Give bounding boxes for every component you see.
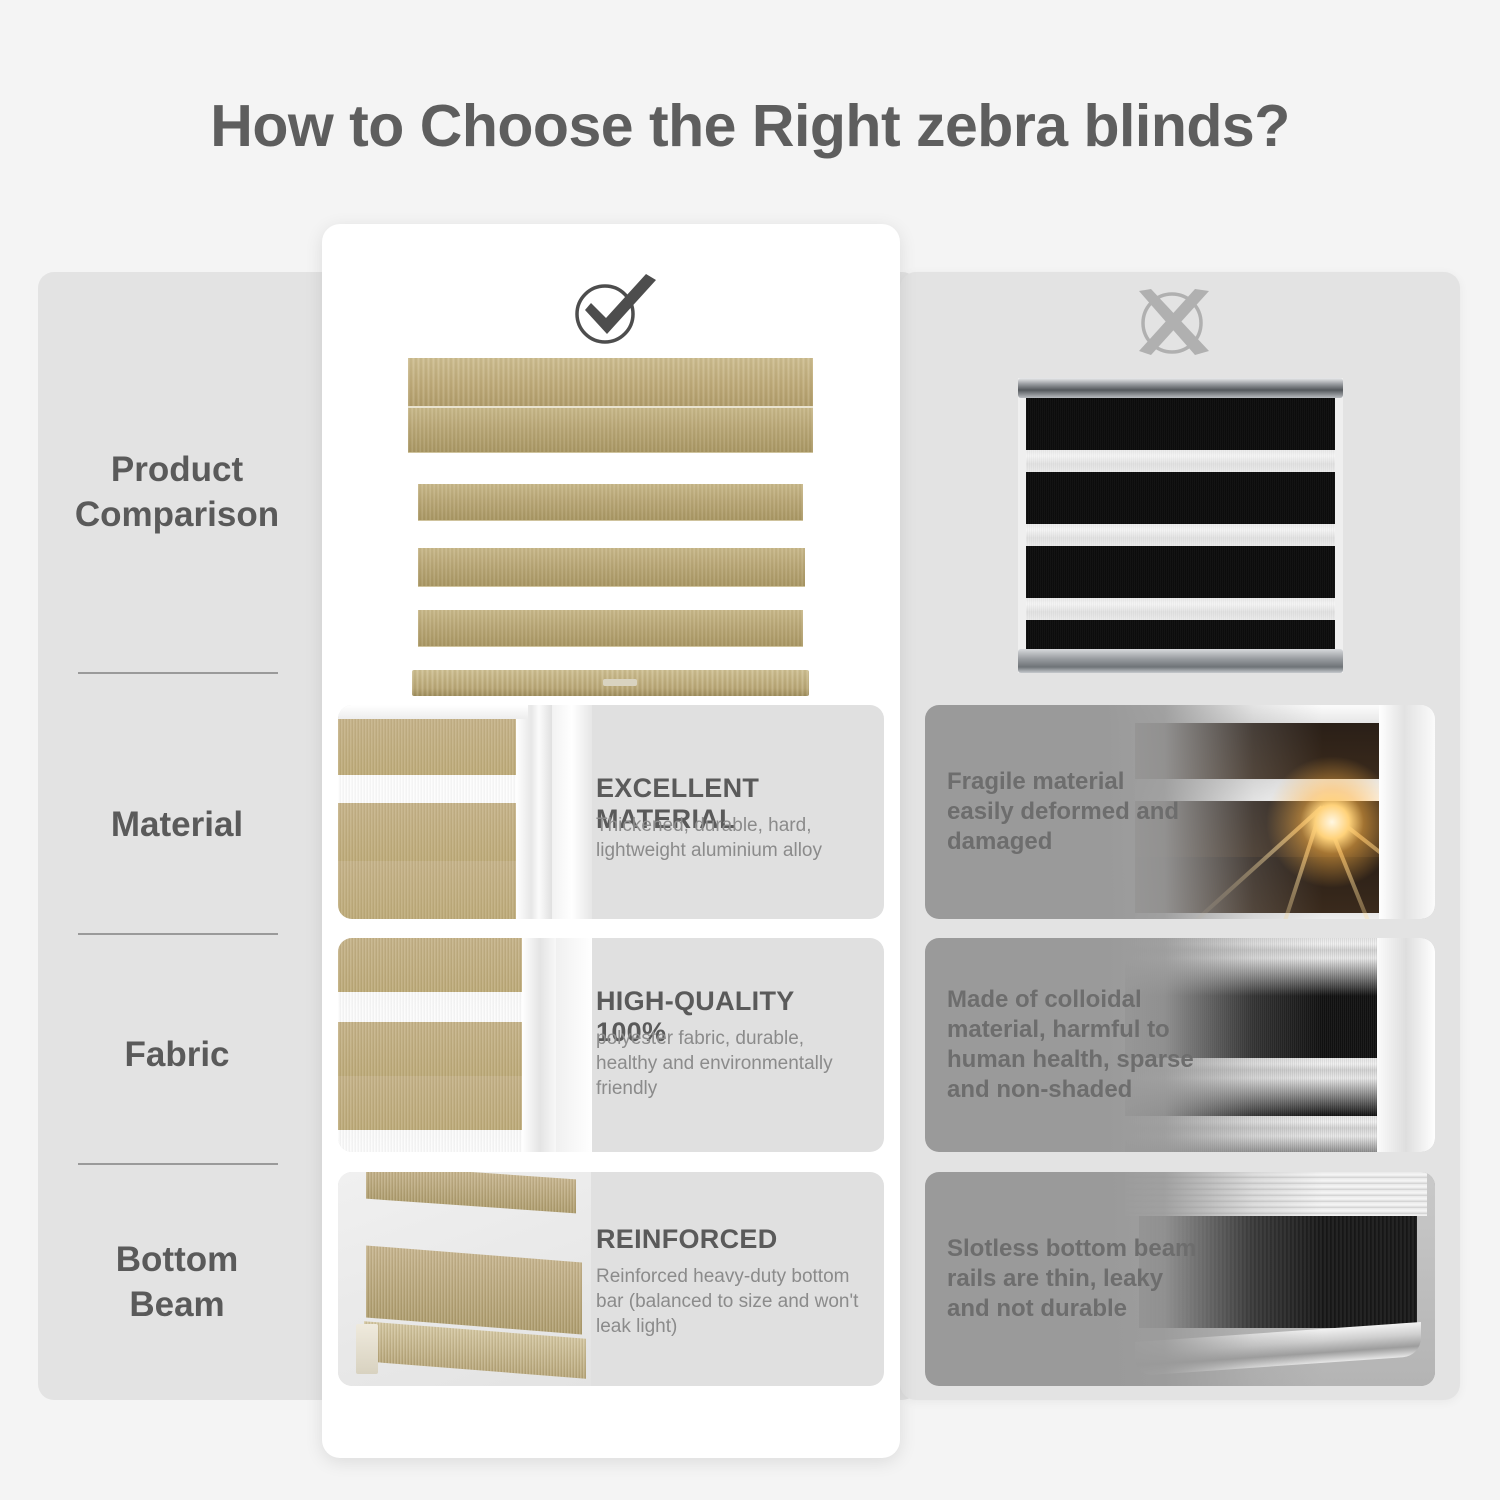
blind-headrail [408,358,813,408]
row-label-product-comparison: Product Comparison [38,447,316,537]
tan-fabric-closeup-photo [338,938,591,1152]
row-label-fabric: Fabric [38,1032,316,1077]
rail-divider [78,933,278,935]
bad-feature-text: Made of colloidal material, harmful to h… [947,938,1197,1152]
page-title: How to Choose the Right zebra blinds? [0,92,1500,160]
bad-feature-bottom-beam: Slotless bottom beam rails are thin, lea… [925,1172,1435,1386]
row-label-bottom-beam: Bottom Beam [38,1237,316,1327]
blind-fabric [1026,398,1335,649]
tan-blind-window-frame-photo [338,705,591,919]
good-feature-bottom-beam: REINFORCED Reinforced heavy-duty bottom … [338,1172,884,1386]
row-label-line-2: Beam [38,1282,316,1327]
bad-hero-product-image [1018,378,1343,673]
cross-circle-icon [1125,283,1220,363]
rail-divider [78,1163,278,1165]
bad-feature-material: Fragile material easily deformed and dam… [925,705,1435,919]
blind-slat [418,484,803,521]
blind-slat [418,548,805,587]
bad-feature-body: Fragile material easily deformed and dam… [947,767,1197,857]
blind-headrail [1018,378,1343,398]
blind-slat [408,408,813,453]
row-label-line-2: Comparison [38,492,316,537]
row-label-material: Material [38,802,316,847]
bad-feature-fabric: Made of colloidal material, harmful to h… [925,938,1435,1152]
blind-bottom-rail [1018,649,1343,673]
blind-bottom-bar [412,670,809,696]
good-feature-text: REINFORCED Reinforced heavy-duty bottom … [596,1172,866,1386]
bad-feature-body: Slotless bottom beam rails are thin, lea… [947,1234,1197,1324]
good-hero-product-image [408,358,813,698]
bad-feature-body: Made of colloidal material, harmful to h… [947,985,1197,1105]
row-label-line-1: Product [38,447,316,492]
good-feature-text: EXCELLENT MATERIAL Thickened, durable, h… [596,705,866,919]
bad-feature-text: Slotless bottom beam rails are thin, lea… [947,1172,1197,1386]
rail-divider [78,672,278,674]
blind-slat [418,610,803,647]
good-feature-body: Reinforced heavy-duty bottom bar (balanc… [596,1264,860,1339]
good-feature-body: polyester fabric, durable, healthy and e… [596,1026,860,1101]
check-circle-icon [560,272,670,352]
good-feature-fabric: HIGH-QUALITY 100% polyester fabric, dura… [338,938,884,1152]
good-feature-body: Thickened, durable, hard, lightweight al… [596,813,860,863]
bad-feature-text: Fragile material easily deformed and dam… [947,705,1197,919]
good-feature-title: REINFORCED [596,1224,778,1255]
good-feature-material: EXCELLENT MATERIAL Thickened, durable, h… [338,705,884,919]
row-label-line-1: Bottom [38,1237,316,1282]
tan-bottom-beam-angled-photo [338,1172,591,1386]
good-feature-text: HIGH-QUALITY 100% polyester fabric, dura… [596,938,866,1152]
